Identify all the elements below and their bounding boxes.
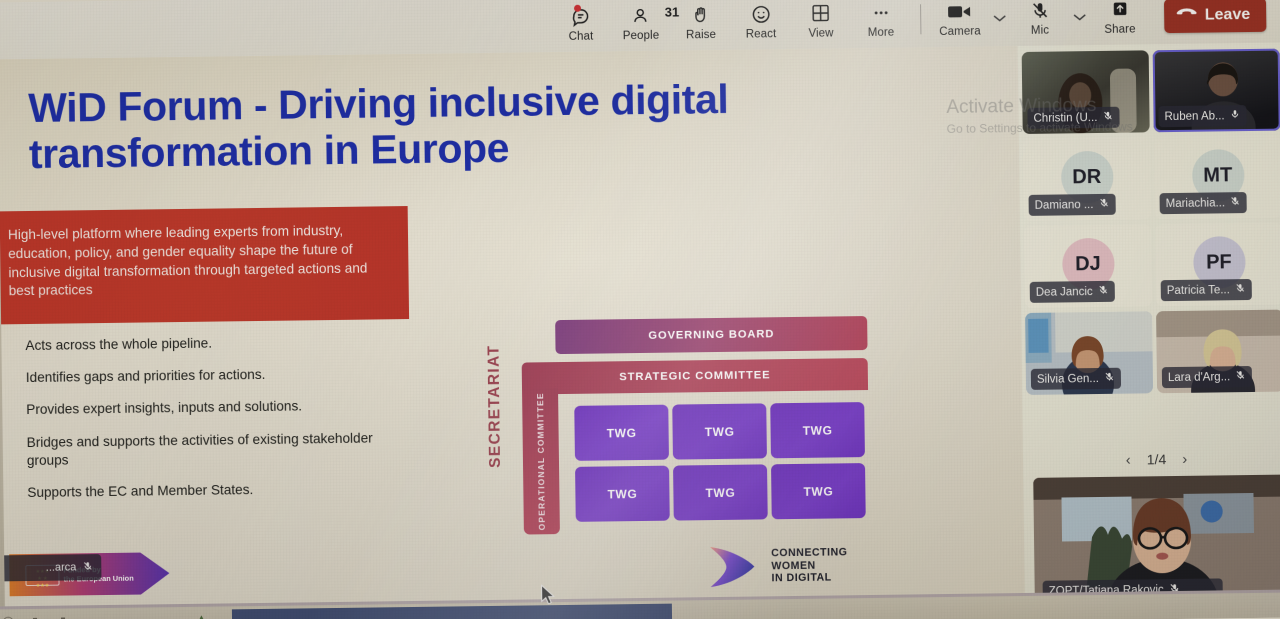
operational-committee-label: OPERATIONAL COMMITTEE bbox=[535, 392, 547, 530]
leave-button[interactable]: Leave bbox=[1164, 0, 1267, 33]
people-button[interactable]: 31 People bbox=[611, 0, 672, 49]
participant-nameplate: Ruben Ab... bbox=[1158, 105, 1246, 127]
mic-muted-icon bbox=[1230, 108, 1241, 123]
share-label: Share bbox=[1104, 23, 1135, 35]
camera-options-chevron-down-icon[interactable] bbox=[989, 0, 1010, 44]
mic-button[interactable]: Mic bbox=[1009, 0, 1070, 44]
participant-name: Damiano ... bbox=[1035, 199, 1094, 212]
screen-surface: Chat 31 People Raise bbox=[0, 0, 1280, 619]
chat-label: Chat bbox=[569, 30, 594, 42]
view-button[interactable]: View bbox=[791, 0, 852, 46]
strategic-committee-box: STRATEGIC COMMITTEE bbox=[522, 358, 868, 395]
list-item: Provides expert insights, inputs and sol… bbox=[20, 397, 380, 420]
governing-board-box: GOVERNING BOARD bbox=[555, 316, 867, 354]
participant-tile[interactable]: MT Mariachia... bbox=[1154, 136, 1280, 220]
toolbar-device-controls: Camera Mic bbox=[929, 0, 1150, 45]
list-item: Bridges and supports the activities of e… bbox=[21, 429, 381, 470]
twg-box: TWG bbox=[574, 405, 669, 461]
list-item: Identifies gaps and priorities for actio… bbox=[20, 365, 380, 388]
overlay-participant-nameplate: ...arca bbox=[0, 554, 101, 582]
spotlight-participant-tile[interactable]: ZOPT/Tatjana Rakovic bbox=[1033, 475, 1280, 608]
more-button[interactable]: More bbox=[851, 0, 912, 46]
participant-tiles: Christin (U... bbox=[1022, 49, 1280, 395]
raise-hand-button[interactable]: Raise bbox=[671, 0, 732, 48]
toolbar-main-actions: Chat 31 People Raise bbox=[551, 0, 912, 50]
twg-box: TWG bbox=[672, 403, 767, 459]
participant-tile[interactable]: Ruben Ab... bbox=[1153, 49, 1280, 133]
taskbar-app-icon[interactable]: ▮ bbox=[32, 615, 38, 619]
secretariat-label: SECRETARIAT bbox=[481, 331, 509, 481]
participant-tile[interactable]: PF Patricia Te... bbox=[1155, 223, 1280, 307]
participant-name: Ruben Ab... bbox=[1164, 110, 1224, 123]
overlay-participant-name: ...arca bbox=[46, 561, 77, 573]
mic-muted-icon bbox=[82, 560, 93, 575]
participant-nameplate: Damiano ... bbox=[1029, 194, 1116, 216]
mic-label: Mic bbox=[1031, 24, 1049, 36]
twg-box: TWG bbox=[575, 466, 670, 522]
participant-tile[interactable]: DJ Dea Jancic bbox=[1024, 224, 1152, 308]
camera-button[interactable]: Camera bbox=[929, 0, 990, 45]
list-item: Supports the EC and Member States. bbox=[21, 479, 381, 502]
hang-up-icon bbox=[1176, 6, 1197, 24]
slide-callout-box: High-level platform where leading expert… bbox=[0, 206, 409, 324]
callout-text: High-level platform where leading expert… bbox=[8, 223, 368, 299]
chat-icon bbox=[570, 4, 592, 28]
governance-org-chart: SECRETARIAT GOVERNING BOARD STRATEGIC CO… bbox=[476, 254, 880, 539]
presentation-slide: WiD Forum - Driving inclusive digital tr… bbox=[0, 46, 1025, 611]
shared-content-stage[interactable]: WiD Forum - Driving inclusive digital tr… bbox=[0, 46, 1025, 611]
people-icon: 31 bbox=[631, 3, 651, 27]
people-label: People bbox=[623, 29, 660, 41]
roster-pager: ‹ 1/4 › bbox=[1023, 446, 1280, 473]
view-label: View bbox=[808, 27, 833, 39]
operational-committee-box: OPERATIONAL COMMITTEE bbox=[522, 388, 560, 534]
participant-tile[interactable]: DR Damiano ... bbox=[1023, 137, 1151, 221]
connecting-women-in-digital-logo: CONNECTING WOMEN IN DIGITAL bbox=[704, 541, 848, 591]
taskbar-window-preview[interactable] bbox=[232, 604, 672, 619]
participant-nameplate: Mariachia... bbox=[1160, 192, 1248, 214]
camera-icon bbox=[947, 0, 973, 23]
mic-muted-icon bbox=[1230, 195, 1241, 210]
twg-box: TWG bbox=[771, 463, 866, 519]
mic-muted-icon bbox=[1235, 369, 1246, 384]
pager-next-button[interactable]: › bbox=[1182, 450, 1187, 467]
chat-unread-dot bbox=[574, 4, 581, 11]
view-grid-icon bbox=[810, 1, 831, 25]
chat-button[interactable]: Chat bbox=[551, 0, 612, 50]
slide-title: WiD Forum - Driving inclusive digital tr… bbox=[28, 76, 769, 177]
mic-muted-icon bbox=[1030, 0, 1050, 22]
pager-prev-button[interactable]: ‹ bbox=[1126, 451, 1131, 468]
participant-tile[interactable]: Christin (U... bbox=[1022, 50, 1150, 134]
participant-tile[interactable]: Lara d'Arg... bbox=[1156, 310, 1280, 394]
participant-tile[interactable]: Silvia Gen... bbox=[1025, 311, 1153, 395]
react-smiley-icon bbox=[750, 2, 772, 26]
cwd-line2: WOMEN bbox=[771, 559, 847, 573]
photographed-screen-frame: Chat 31 People Raise bbox=[0, 0, 1280, 619]
raise-label: Raise bbox=[686, 28, 716, 40]
participant-nameplate: Silvia Gen... bbox=[1031, 368, 1121, 390]
toolbar-divider bbox=[920, 4, 921, 34]
participant-nameplate: Dea Jancic bbox=[1030, 281, 1115, 303]
mic-options-chevron-down-icon[interactable] bbox=[1069, 0, 1090, 43]
taskbar-search-icon[interactable]: ◯ bbox=[2, 615, 14, 619]
mic-muted-icon bbox=[1104, 371, 1115, 386]
more-ellipsis-icon bbox=[870, 0, 892, 24]
cwd-chevron-icon bbox=[704, 542, 761, 591]
share-button[interactable]: Share bbox=[1089, 0, 1150, 43]
participant-nameplate: Lara d'Arg... bbox=[1162, 366, 1253, 388]
participant-name: Dea Jancic bbox=[1036, 286, 1093, 299]
participant-nameplate: Christin (U... bbox=[1027, 107, 1119, 129]
twg-grid: TWG TWG TWG TWG TWG TWG bbox=[574, 402, 865, 522]
camera-label: Camera bbox=[939, 25, 981, 38]
participant-roster-rail: Christin (U... bbox=[1018, 43, 1280, 608]
raise-hand-icon bbox=[691, 3, 711, 27]
strategic-committee-group: STRATEGIC COMMITTEE OPERATIONAL COMMITTE… bbox=[522, 358, 870, 535]
participant-nameplate: Patricia Te... bbox=[1161, 279, 1252, 301]
mic-muted-icon bbox=[1098, 284, 1109, 299]
mic-muted-icon bbox=[1098, 197, 1109, 212]
react-label: React bbox=[746, 28, 777, 40]
more-label: More bbox=[868, 26, 895, 38]
list-item: Acts across the whole pipeline. bbox=[19, 332, 379, 355]
twg-box: TWG bbox=[770, 402, 865, 458]
participant-name: Mariachia... bbox=[1166, 197, 1226, 210]
participant-name: Patricia Te... bbox=[1167, 284, 1230, 297]
leave-label: Leave bbox=[1205, 5, 1251, 24]
participant-name: Silvia Gen... bbox=[1037, 372, 1099, 385]
participant-name: Christin (U... bbox=[1033, 111, 1097, 124]
slide-bullet-list: Acts across the whole pipeline. Identifi… bbox=[19, 332, 381, 516]
cwd-wordmark: CONNECTING WOMEN IN DIGITAL bbox=[771, 546, 848, 586]
cwd-line1: CONNECTING bbox=[771, 546, 847, 560]
share-up-arrow-icon bbox=[1109, 0, 1131, 21]
twg-box: TWG bbox=[673, 464, 768, 520]
cwd-line3: IN DIGITAL bbox=[771, 572, 847, 586]
participant-name: Lara d'Arg... bbox=[1168, 371, 1230, 384]
taskbar-app-icon[interactable]: ▮ bbox=[60, 615, 66, 619]
mic-muted-icon bbox=[1235, 282, 1246, 297]
mic-muted-icon bbox=[1102, 110, 1113, 125]
pager-page-indicator: 1/4 bbox=[1147, 451, 1167, 467]
react-button[interactable]: React bbox=[731, 0, 792, 47]
taskbar-tree-icon[interactable]: ▲ bbox=[196, 613, 207, 619]
mouse-cursor bbox=[541, 584, 556, 611]
